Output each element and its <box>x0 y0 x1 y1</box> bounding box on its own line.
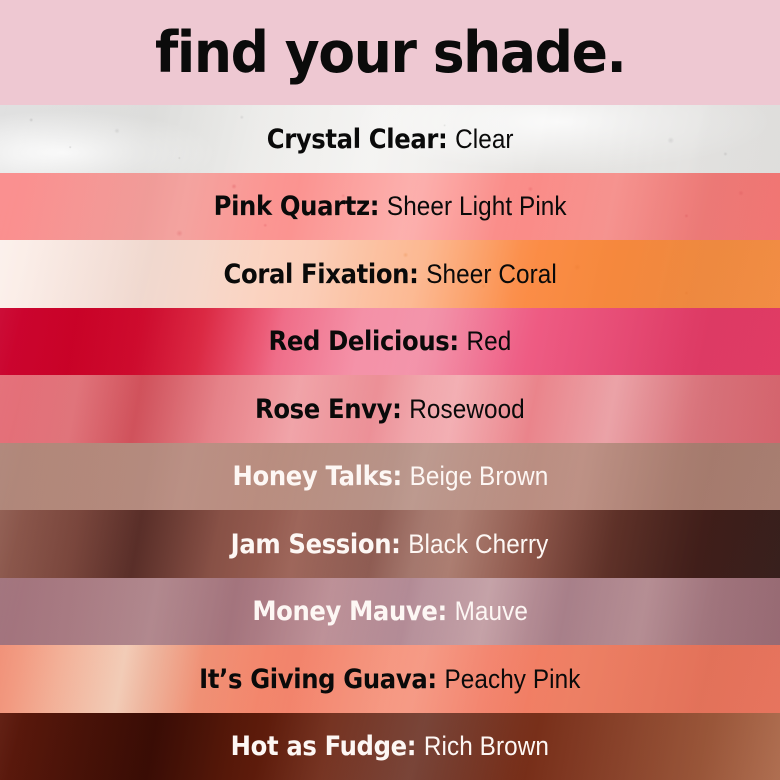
shade-name: Jam Session: <box>231 529 401 560</box>
shade-description: Peachy Pink <box>445 664 581 694</box>
shade-description: Rich Brown <box>424 731 549 761</box>
shade-row-honey-talks[interactable]: Honey Talks: Beige Brown <box>0 443 780 511</box>
shade-label-its-giving-guava: It’s Giving Guava: Peachy Pink <box>199 666 580 693</box>
shade-name: It’s Giving Guava: <box>199 664 437 695</box>
shade-label-money-mauve: Money Mauve: Mauve <box>252 598 528 625</box>
shade-chart-poster: find your shade. Crystal Clear: Clear Pi… <box>0 0 780 780</box>
shade-label-jam-session: Jam Session: Black Cherry <box>231 531 549 558</box>
shade-description: Mauve <box>454 596 527 626</box>
shade-description: Red <box>467 326 512 356</box>
shade-row-pink-quartz[interactable]: Pink Quartz: Sheer Light Pink <box>0 173 780 241</box>
shade-row-coral-fixation[interactable]: Coral Fixation: Sheer Coral <box>0 240 780 308</box>
shade-description: Beige Brown <box>409 461 548 491</box>
shade-label-hot-as-fudge: Hot as Fudge: Rich Brown <box>231 733 549 760</box>
shade-label-pink-quartz: Pink Quartz: Sheer Light Pink <box>213 193 566 220</box>
shade-label-honey-talks: Honey Talks: Beige Brown <box>232 463 548 490</box>
shade-row-its-giving-guava[interactable]: It’s Giving Guava: Peachy Pink <box>0 645 780 713</box>
shade-name: Red Delicious: <box>269 326 459 357</box>
shade-list: Crystal Clear: Clear Pink Quartz: Sheer … <box>0 105 780 780</box>
shade-name: Hot as Fudge: <box>231 731 416 762</box>
shade-row-crystal-clear[interactable]: Crystal Clear: Clear <box>0 105 780 173</box>
shade-name: Crystal Clear: <box>267 124 448 155</box>
shade-name: Money Mauve: <box>252 596 447 627</box>
shade-description: Sheer Light Pink <box>387 191 567 221</box>
shade-name: Honey Talks: <box>232 461 401 492</box>
shade-row-hot-as-fudge[interactable]: Hot as Fudge: Rich Brown <box>0 713 780 780</box>
shade-row-money-mauve[interactable]: Money Mauve: Mauve <box>0 578 780 646</box>
shade-row-jam-session[interactable]: Jam Session: Black Cherry <box>0 510 780 578</box>
shade-row-rose-envy[interactable]: Rose Envy: Rosewood <box>0 375 780 443</box>
shade-description: Rosewood <box>409 394 525 424</box>
shade-name: Pink Quartz: <box>213 191 379 222</box>
shade-label-rose-envy: Rose Envy: Rosewood <box>255 396 525 423</box>
shade-name: Coral Fixation: <box>223 259 418 290</box>
page-title: find your shade. <box>155 25 625 82</box>
shade-row-red-delicious[interactable]: Red Delicious: Red <box>0 308 780 376</box>
shade-label-crystal-clear: Crystal Clear: Clear <box>267 126 514 153</box>
shade-description: Black Cherry <box>409 529 549 559</box>
poster-header: find your shade. <box>0 0 780 105</box>
shade-label-coral-fixation: Coral Fixation: Sheer Coral <box>223 261 556 288</box>
shade-description: Sheer Coral <box>426 259 557 289</box>
shade-description: Clear <box>455 124 514 154</box>
shade-name: Rose Envy: <box>255 394 402 425</box>
shade-label-red-delicious: Red Delicious: Red <box>269 328 512 355</box>
